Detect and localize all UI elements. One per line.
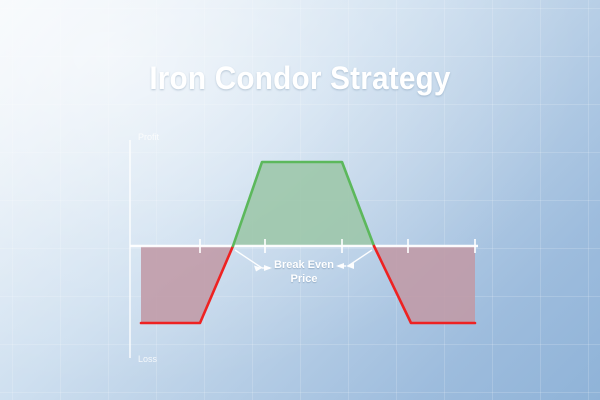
chart-canvas: Iron Condor Strategy bbox=[0, 0, 600, 400]
profit-region bbox=[233, 162, 374, 246]
loss-region-left bbox=[141, 246, 233, 323]
y-axis-loss-label: Loss bbox=[138, 354, 158, 364]
y-axis-profit-label: Profit bbox=[138, 132, 160, 142]
payoff-diagram: Break Even Price Profit Loss bbox=[0, 0, 600, 400]
break-even-label-line1: Break Even bbox=[274, 259, 334, 271]
break-even-label-line2: Price bbox=[291, 273, 318, 285]
break-even-arrow-left bbox=[235, 250, 272, 272]
loss-region-right bbox=[374, 246, 475, 323]
